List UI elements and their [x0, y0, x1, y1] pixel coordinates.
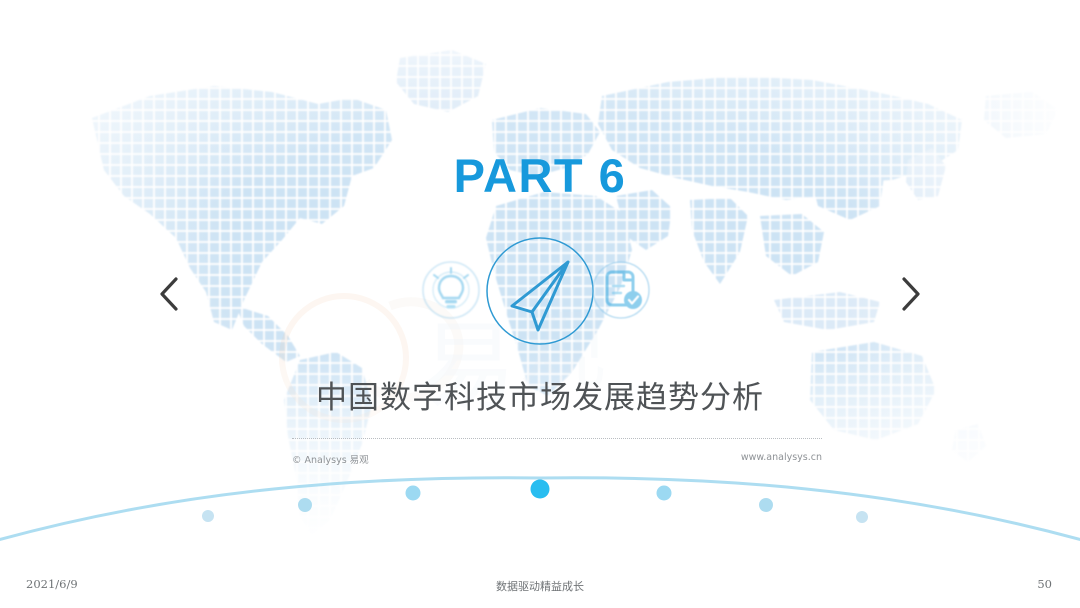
- footer-page-number: 50: [1037, 577, 1052, 591]
- progress-dot: [657, 486, 672, 501]
- progress-dot: [856, 511, 868, 523]
- section-icon-document-check[interactable]: [588, 232, 654, 347]
- credit-divider: [292, 438, 822, 440]
- progress-dots: [202, 480, 868, 524]
- website-link[interactable]: www.analysys.cn: [741, 452, 822, 463]
- section-title: 中国数字科技市场发展趋势分析: [0, 372, 1080, 417]
- progress-dot: [406, 486, 421, 501]
- progress-dot-active: [531, 480, 550, 499]
- progress-dot: [298, 498, 312, 512]
- footer-tagline: 数据驱动精益成长: [0, 578, 1080, 594]
- page-title: PART 6: [0, 148, 1080, 204]
- progress-dot: [759, 498, 773, 512]
- section-icon-row: [0, 232, 1080, 352]
- copyright-text: © Analysys 易观: [292, 452, 369, 466]
- lightbulb-icon: [418, 232, 484, 342]
- slide-root: 易 观 PART 6: [0, 0, 1080, 608]
- section-icon-lightbulb[interactable]: [418, 232, 484, 347]
- credit-row: © Analysys 易观 www.analysys.cn: [292, 452, 822, 468]
- progress-dot: [202, 510, 214, 522]
- paper-plane-icon: [480, 232, 600, 352]
- slide-footer: 2021/6/9 数据驱动精益成长 50: [0, 563, 1080, 608]
- slide-content: PART 6: [0, 0, 1080, 608]
- document-check-icon: [588, 232, 654, 342]
- section-icon-paper-plane[interactable]: [480, 232, 600, 357]
